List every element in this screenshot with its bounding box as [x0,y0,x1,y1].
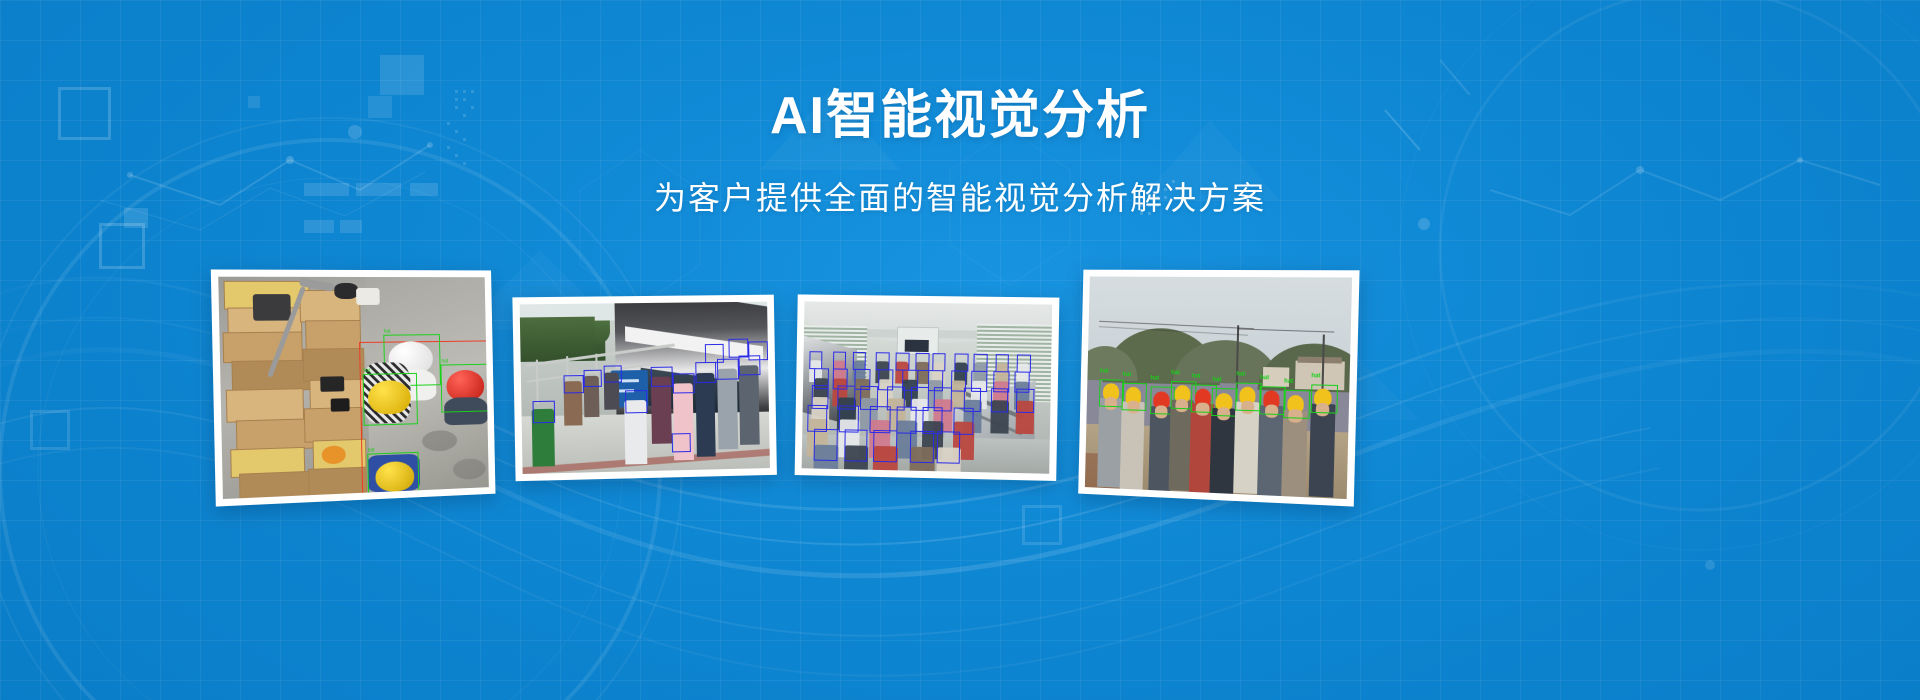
worker-silhouette [1097,398,1122,488]
detection-label: hat [384,328,391,336]
scene-crowd-platform [802,301,1053,473]
person-detection-box [852,352,866,369]
worker-silhouette [1281,410,1308,499]
worker-silhouette [1308,404,1335,497]
page-subtitle: 为客户提供全面的智能视觉分析解决方案 [0,173,1920,219]
ai-vision-banner: AI智能视觉分析 为客户提供全面的智能视觉分析解决方案 [0,0,1920,700]
person-detection-box [814,428,838,461]
detection-box: hat [367,452,420,495]
gallery-photo-outdoor-hat-detection[interactable]: hathathathathathathathathathat [1078,270,1359,507]
hat-detection-label: hat [1100,368,1109,375]
worker-silhouette [1120,402,1145,492]
photo-image-outdoor: hathathathathathathathathathat [1085,277,1352,500]
worker-silhouette [1233,402,1259,494]
scene-warehouse: hat hat hat [218,277,489,499]
face-detection-box [533,400,556,423]
detection-box: hat [363,373,418,426]
page-title: AI智能视觉分析 [0,88,1920,145]
scene-platform [520,302,770,474]
face-detection-box [584,369,603,386]
hat-detection-label: hat [1284,379,1293,386]
photo-image-crowd [802,301,1053,473]
person-detection-box [990,388,1008,412]
person-detection-box [1017,355,1031,372]
person-detection-box [910,430,934,463]
person-detection-box [1016,389,1034,413]
person-detection-box [974,354,988,371]
hat-detection-label: hat [1260,375,1269,382]
face-detection-box [625,390,647,413]
person-detection-box [955,354,969,371]
hat-detection-label: hat [1150,376,1159,383]
hat-detection-box [1099,379,1124,407]
hat-detection-label: hat [1192,374,1201,381]
person-detection-box [809,352,823,369]
decor-dot [1418,218,1430,230]
person-detection-box [873,430,897,463]
worker-silhouette [1257,406,1283,499]
detection-box: hat [441,363,489,412]
person-detection-box [932,353,946,370]
hat-detection-box [1235,382,1262,411]
gallery-photo-crowd-density-detection[interactable] [795,294,1060,481]
hat-detection-box [1283,390,1310,419]
face-detection-box [651,366,673,387]
detection-label: hat [368,447,375,455]
person-detection-box [876,353,890,370]
detection-label: hat [363,367,370,375]
hat-detection-box [1212,388,1238,417]
hat-detection-label: hat [1212,377,1221,384]
decor-dot [1705,560,1715,570]
face-detection-box [704,344,723,363]
person-detection-box [844,429,868,462]
hat-detection-box [1310,384,1337,413]
gallery-photo-platform-face-detection[interactable] [512,295,777,482]
hat-detection-label: hat [1171,370,1180,377]
banner-copy: AI智能视觉分析 为客户提供全面的智能视觉分析解决方案 [0,88,1920,219]
hat-detection-box [1259,386,1286,415]
decor-bar [304,220,334,233]
person-detection-box [936,431,960,464]
photo-image-warehouse: hat hat hat [218,277,489,499]
person-detection-box [916,353,930,370]
person-detection-box [995,354,1009,371]
photo-image-platform [520,302,770,474]
decor-bar [340,220,362,233]
photo-gallery: hat hat hat [0,262,1920,522]
face-detection-box [672,433,692,452]
person-detection-box [833,352,847,369]
person-detection-box [896,353,910,370]
hat-detection-label: hat [1236,371,1245,378]
worker-silhouette [1210,408,1236,500]
hat-detection-label: hat [1311,373,1320,380]
face-detection-box [729,339,748,358]
gallery-photo-warehouse-helmet-detection[interactable]: hat hat hat [211,269,496,506]
hat-detection-box [1122,383,1147,411]
scene-outdoor-construction: hathathathathathathathathathat [1085,277,1352,500]
face-detection-box [748,342,767,361]
face-detection-box [695,362,717,383]
detection-label: hat [441,357,448,365]
face-detection-box [673,373,695,394]
face-detection-box [564,375,584,394]
hat-detection-label: hat [1123,372,1132,379]
face-detection-box [603,366,621,383]
